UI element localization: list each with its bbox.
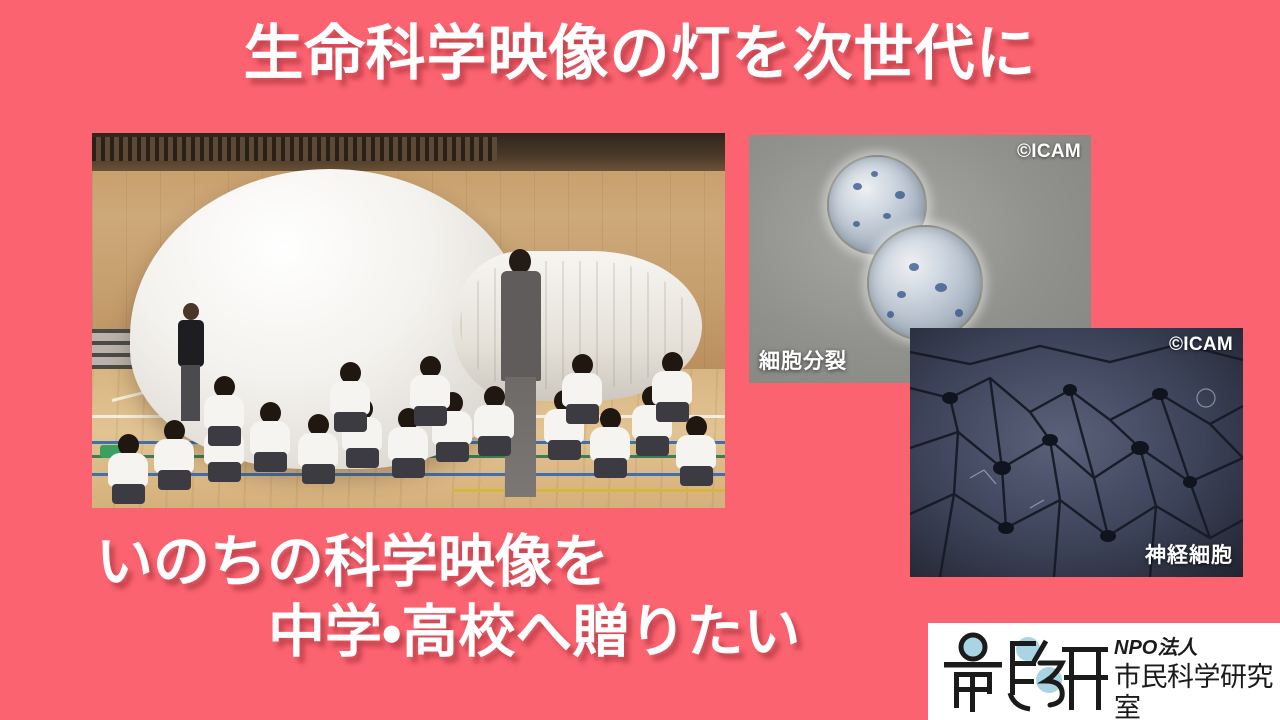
page-title: 生命科学映像の灯を次世代に <box>0 22 1280 85</box>
photo-neuron-cells: ©ICAM 神経細胞 <box>910 328 1243 577</box>
seated-student <box>410 356 450 426</box>
gym-balcony <box>92 133 725 171</box>
headline-line-1: いのちの科学映像を <box>96 530 609 594</box>
cell-speck <box>887 311 894 318</box>
logo-org-type: NPO法人 <box>1114 637 1278 659</box>
cell-lower <box>867 225 983 341</box>
seated-student <box>108 434 148 504</box>
headline-line-2: 中学・高校へ贈りたい <box>96 598 916 668</box>
cell-speck <box>853 183 862 190</box>
seated-student <box>250 402 290 472</box>
seated-student <box>204 376 244 446</box>
seated-student <box>474 386 514 456</box>
logo-org-name: 市民科学研究室 <box>1114 662 1278 720</box>
seated-student <box>652 352 692 422</box>
watermark-icam-cell: ©ICAM <box>1017 141 1081 163</box>
presenter-torso <box>178 320 204 367</box>
cell-speck <box>897 291 906 298</box>
cell-speck <box>909 263 919 271</box>
watermark-icam-neuron: ©ICAM <box>1169 334 1233 356</box>
logo-text-block: NPO法人 市民科学研究室 <box>1114 637 1278 720</box>
gym-balcony-rail <box>92 137 497 161</box>
organization-logo: NPO法人 市民科学研究室 <box>928 623 1280 720</box>
court-line <box>452 489 725 492</box>
seated-student <box>330 362 370 432</box>
cell-speck <box>895 191 905 199</box>
shiminken-logomark-icon <box>936 627 1112 715</box>
caption-cell-division: 細胞分裂 <box>759 345 847 375</box>
cell-speck <box>883 213 891 219</box>
presenter-person <box>176 303 206 421</box>
seated-student <box>154 420 194 490</box>
presenter-head <box>183 303 199 320</box>
presenter-legs <box>181 365 200 421</box>
teacher-person <box>497 249 543 497</box>
photo-gym-dome-event <box>92 133 725 508</box>
seated-student <box>676 416 716 486</box>
teacher-torso <box>501 271 541 381</box>
seated-student <box>562 354 602 424</box>
cell-speck <box>853 221 860 227</box>
presentation-slide: 生命科学映像の灯を次世代に <box>0 0 1280 720</box>
cell-speck <box>955 309 963 317</box>
caption-neuron: 神経細胞 <box>1145 539 1233 569</box>
cell-speck <box>935 283 947 292</box>
cell-speck <box>871 171 878 177</box>
headline-message: いのちの科学映像を 中学・高校へ贈りたい <box>96 528 916 667</box>
